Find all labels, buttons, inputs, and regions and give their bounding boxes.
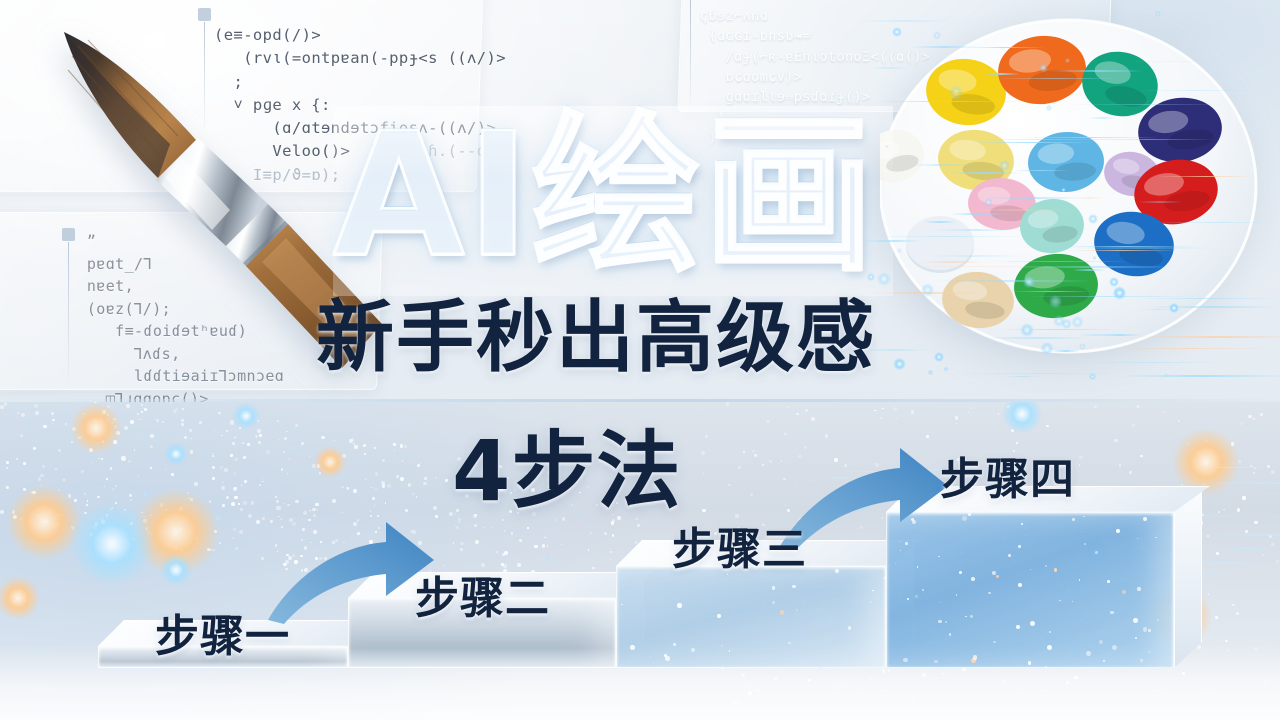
particle — [84, 493, 86, 495]
particle — [456, 526, 459, 529]
particle — [762, 464, 764, 466]
particle — [422, 492, 423, 493]
page-title-text: AI绘画 — [333, 97, 876, 295]
particle — [234, 437, 236, 439]
light-streak — [923, 221, 957, 223]
particle — [1271, 543, 1274, 546]
page-title-glass: AI绘画 — [333, 106, 893, 296]
particle — [291, 446, 295, 450]
particle — [134, 449, 135, 450]
particle — [1223, 509, 1225, 511]
light-streak — [949, 172, 1019, 174]
bokeh-glow — [1002, 402, 1042, 434]
particle — [402, 460, 404, 462]
particle — [154, 455, 158, 459]
particle — [220, 466, 223, 469]
glow-dot — [1088, 214, 1099, 225]
particle — [701, 451, 705, 455]
light-streak — [1012, 291, 1092, 293]
particle — [1246, 508, 1248, 510]
particle — [283, 503, 284, 504]
particle — [404, 454, 408, 458]
particle — [55, 468, 58, 471]
particle — [874, 410, 876, 412]
glow-dot — [933, 31, 942, 40]
light-streak — [1151, 222, 1279, 224]
particle — [6, 461, 9, 464]
particle — [278, 439, 280, 441]
particle — [212, 477, 215, 480]
panel-rule — [690, 0, 691, 112]
particle — [184, 436, 187, 439]
light-streak — [1072, 269, 1106, 271]
particle — [239, 530, 243, 534]
particle — [23, 462, 26, 465]
particle — [1253, 418, 1255, 420]
particle — [1245, 510, 1246, 511]
particle — [276, 506, 280, 510]
particle — [169, 402, 172, 404]
particle — [1079, 456, 1082, 459]
particle — [194, 482, 197, 485]
particle — [317, 509, 319, 511]
light-streak — [970, 142, 1096, 144]
particle — [502, 553, 505, 556]
particle — [424, 477, 427, 480]
particle — [496, 557, 498, 559]
light-streak — [1118, 375, 1280, 377]
light-streak — [1051, 350, 1080, 352]
particle — [970, 407, 972, 409]
particle — [735, 514, 738, 517]
particle — [420, 463, 421, 464]
particle — [43, 425, 47, 429]
particle — [385, 502, 386, 503]
particle — [517, 563, 520, 566]
particle — [128, 460, 131, 463]
particle — [77, 463, 79, 465]
particle — [371, 487, 372, 488]
particle — [16, 458, 18, 460]
particle — [51, 412, 54, 415]
particle — [242, 442, 244, 444]
particle — [1262, 554, 1264, 556]
light-streak — [1137, 336, 1280, 338]
particle — [956, 423, 957, 424]
particle — [1232, 604, 1235, 607]
particle — [527, 527, 528, 528]
particle — [144, 492, 148, 496]
particle — [221, 435, 222, 436]
bokeh-glow — [232, 402, 260, 430]
particle — [1140, 455, 1143, 458]
step-front-face — [616, 566, 886, 668]
particle — [259, 434, 262, 437]
subtitle: 新手秒出高级感 — [316, 292, 936, 384]
light-streak — [1004, 376, 1041, 378]
particle — [273, 463, 274, 464]
particle — [375, 472, 378, 475]
particle — [241, 484, 243, 486]
particle — [138, 476, 139, 477]
particle — [1236, 612, 1239, 615]
light-streak — [1065, 247, 1214, 249]
particle — [750, 493, 753, 496]
particle — [1215, 616, 1218, 619]
particle — [481, 563, 485, 567]
particle — [110, 467, 113, 470]
particle — [1234, 492, 1236, 494]
particle — [968, 411, 969, 412]
particle — [484, 527, 485, 528]
light-streak — [935, 229, 1014, 231]
particle — [247, 443, 250, 446]
step-label-3: 步骤三 — [672, 528, 807, 572]
particle — [222, 504, 226, 508]
particle — [283, 451, 285, 453]
particle — [238, 503, 239, 504]
particle — [0, 405, 4, 409]
particle — [124, 426, 127, 429]
particle — [894, 407, 897, 410]
particle — [1242, 496, 1245, 499]
particle — [1013, 450, 1015, 452]
particle — [743, 451, 745, 453]
particle — [17, 434, 18, 435]
step-label-4: 步骤四 — [940, 458, 1075, 502]
particle — [234, 472, 236, 474]
particle — [232, 442, 235, 445]
particle — [226, 430, 228, 432]
particle — [309, 510, 311, 512]
particle — [417, 464, 420, 467]
particle — [98, 458, 99, 459]
particle — [33, 447, 37, 451]
glow-dot — [999, 160, 1010, 171]
particle — [139, 419, 141, 421]
particle — [547, 545, 548, 546]
particle — [701, 409, 702, 410]
particle — [445, 479, 448, 482]
particle — [214, 430, 215, 431]
particle — [433, 506, 437, 510]
particle — [534, 545, 537, 548]
light-streak — [1176, 467, 1280, 469]
particle — [35, 411, 39, 415]
light-streak — [1205, 482, 1280, 484]
particle — [382, 484, 385, 487]
particle — [1129, 471, 1131, 473]
particle — [6, 486, 9, 489]
light-streak — [1258, 516, 1280, 518]
particle — [276, 500, 278, 502]
particle — [11, 402, 14, 404]
particle — [474, 524, 477, 527]
particle — [287, 473, 288, 474]
particle — [534, 520, 536, 522]
particle — [289, 458, 291, 460]
particle — [880, 417, 882, 419]
particle — [115, 485, 117, 487]
particle — [501, 563, 504, 566]
headline-four-steps: 4步法 — [452, 425, 681, 517]
particle — [1216, 552, 1219, 555]
particle — [341, 486, 343, 488]
particle — [150, 434, 154, 438]
particle — [129, 494, 132, 497]
particle — [224, 468, 228, 472]
bokeh-glow — [164, 442, 188, 466]
particle — [911, 410, 915, 414]
light-streak — [1128, 61, 1227, 63]
particle — [286, 431, 288, 433]
particle — [365, 479, 366, 480]
glow-dot — [892, 27, 902, 37]
light-streak — [1020, 137, 1159, 139]
particle — [443, 532, 444, 533]
particle — [301, 442, 304, 445]
light-streak — [1137, 298, 1278, 300]
particle — [354, 445, 358, 449]
particle — [277, 420, 279, 422]
top-section: (e≡-opd(/)> (rvι(=ontpɐan(-ppɟ<s ((ʌ/)> … — [0, 0, 1280, 402]
particle — [796, 413, 798, 415]
particle — [1016, 442, 1017, 443]
particle — [1225, 640, 1228, 643]
particle — [351, 438, 354, 441]
particle — [504, 530, 506, 532]
glow-dot — [1071, 316, 1084, 329]
glow-dot — [1061, 188, 1065, 192]
particle — [65, 423, 67, 425]
glow-dot — [984, 198, 994, 208]
particle — [784, 433, 787, 436]
particle — [1170, 467, 1171, 468]
light-streak — [1066, 104, 1224, 106]
particle — [1132, 424, 1135, 427]
particle — [475, 540, 479, 544]
particle — [256, 520, 260, 524]
particle — [243, 456, 246, 459]
particle — [212, 455, 214, 457]
particle — [1208, 593, 1210, 595]
particle — [492, 527, 493, 528]
step-side-face — [1174, 486, 1202, 668]
particle — [17, 412, 19, 414]
glow-dot — [1155, 11, 1162, 18]
particle — [416, 496, 417, 497]
particle — [423, 482, 426, 485]
particle — [275, 496, 277, 498]
particle — [233, 528, 236, 531]
light-streak — [871, 67, 909, 69]
glow-dot — [1053, 315, 1065, 327]
particle — [453, 542, 455, 544]
glow-dot — [1093, 256, 1097, 260]
light-streak — [981, 337, 1091, 339]
particle — [1276, 560, 1279, 563]
particle — [262, 481, 264, 483]
particle — [364, 453, 366, 455]
particle — [604, 532, 607, 535]
particle — [382, 459, 385, 462]
particle — [609, 558, 611, 560]
glow-dot — [1023, 276, 1035, 288]
particle — [610, 548, 611, 549]
particle — [226, 496, 229, 499]
glow-dot — [1040, 342, 1053, 355]
particle — [408, 483, 412, 487]
glow-dot — [949, 85, 963, 99]
light-streak — [878, 101, 1025, 103]
particle — [255, 435, 258, 438]
particle — [1214, 585, 1215, 586]
particle — [425, 456, 429, 460]
particle — [90, 500, 92, 502]
particle — [1046, 425, 1049, 428]
particle — [187, 459, 188, 460]
particle — [1254, 521, 1257, 524]
particle — [998, 413, 999, 414]
particle — [394, 450, 395, 451]
bokeh-glow — [70, 402, 122, 454]
light-streak — [1206, 534, 1280, 536]
particle — [150, 467, 152, 469]
particle — [1163, 411, 1164, 412]
particle — [231, 502, 235, 506]
particle — [121, 456, 125, 460]
particle — [1240, 422, 1243, 425]
particle — [766, 420, 770, 424]
glow-dot — [1065, 58, 1070, 63]
particle — [257, 429, 261, 433]
particle — [334, 440, 336, 442]
particle — [1094, 405, 1097, 408]
particle — [71, 441, 73, 443]
particle — [248, 514, 252, 518]
particle — [221, 486, 225, 490]
particle — [1079, 464, 1081, 466]
particle — [303, 511, 307, 515]
particle — [321, 436, 325, 440]
particle — [1248, 415, 1252, 419]
particle — [232, 537, 233, 538]
glow-dot — [1046, 105, 1052, 111]
particle — [610, 551, 612, 553]
particle — [588, 549, 589, 550]
particle — [332, 499, 336, 503]
particle — [235, 547, 238, 550]
particle — [315, 503, 318, 506]
particle — [126, 404, 130, 408]
particle — [150, 445, 153, 448]
step-label-2: 步骤二 — [415, 577, 550, 621]
particle — [86, 504, 88, 506]
particle — [1253, 472, 1255, 474]
particle — [181, 423, 185, 427]
particle — [189, 429, 191, 431]
glow-dot — [1020, 323, 1034, 337]
light-streak — [987, 261, 1129, 263]
particle — [728, 484, 730, 486]
particle — [1119, 464, 1122, 467]
particle — [1147, 406, 1148, 407]
particle — [141, 404, 142, 405]
particle — [101, 458, 103, 460]
particle — [234, 496, 238, 500]
particle — [155, 440, 158, 443]
particle — [882, 408, 883, 409]
particle — [139, 434, 142, 437]
particle — [6, 467, 7, 468]
particle — [42, 465, 44, 467]
particle — [38, 477, 42, 481]
particle — [400, 477, 404, 481]
particle — [222, 416, 223, 417]
light-streak — [1067, 250, 1180, 252]
particle — [342, 512, 343, 513]
particle — [1218, 511, 1220, 513]
particle — [309, 456, 310, 457]
light-streak — [950, 213, 1006, 215]
particle — [460, 542, 463, 545]
light-streak — [1135, 90, 1258, 92]
particle — [955, 416, 959, 420]
light-streak — [1245, 493, 1280, 495]
particle — [400, 444, 404, 448]
light-streak — [1080, 139, 1215, 141]
particle — [405, 509, 408, 512]
glow-dot — [1039, 64, 1048, 73]
particle — [130, 499, 132, 501]
particle — [381, 481, 385, 485]
particle — [144, 408, 147, 411]
particle — [171, 473, 174, 476]
particle — [1260, 413, 1263, 416]
particle — [738, 466, 741, 469]
particle — [726, 402, 729, 405]
light-streak — [1088, 117, 1116, 119]
particle — [612, 534, 615, 537]
particle — [496, 551, 498, 553]
light-streak — [910, 164, 979, 166]
particle — [387, 484, 391, 488]
particle — [21, 413, 25, 417]
particle — [769, 460, 772, 463]
particle — [811, 417, 815, 421]
light-streak — [921, 261, 983, 263]
particle — [244, 480, 247, 483]
particle — [458, 521, 460, 523]
particle — [374, 447, 376, 449]
particle — [347, 487, 349, 489]
particle — [281, 468, 283, 470]
particle — [703, 473, 704, 474]
light-streak — [1138, 201, 1182, 203]
particle — [95, 486, 99, 490]
particle — [28, 417, 31, 420]
particle — [637, 524, 640, 527]
particle — [287, 504, 289, 506]
light-streak — [967, 47, 1044, 49]
bokeh-glow — [70, 502, 154, 586]
particle — [825, 434, 828, 437]
light-streak — [982, 73, 1020, 75]
bokeh-glow — [160, 554, 192, 586]
particle — [542, 544, 545, 547]
particle — [190, 450, 193, 453]
particle — [117, 406, 119, 408]
